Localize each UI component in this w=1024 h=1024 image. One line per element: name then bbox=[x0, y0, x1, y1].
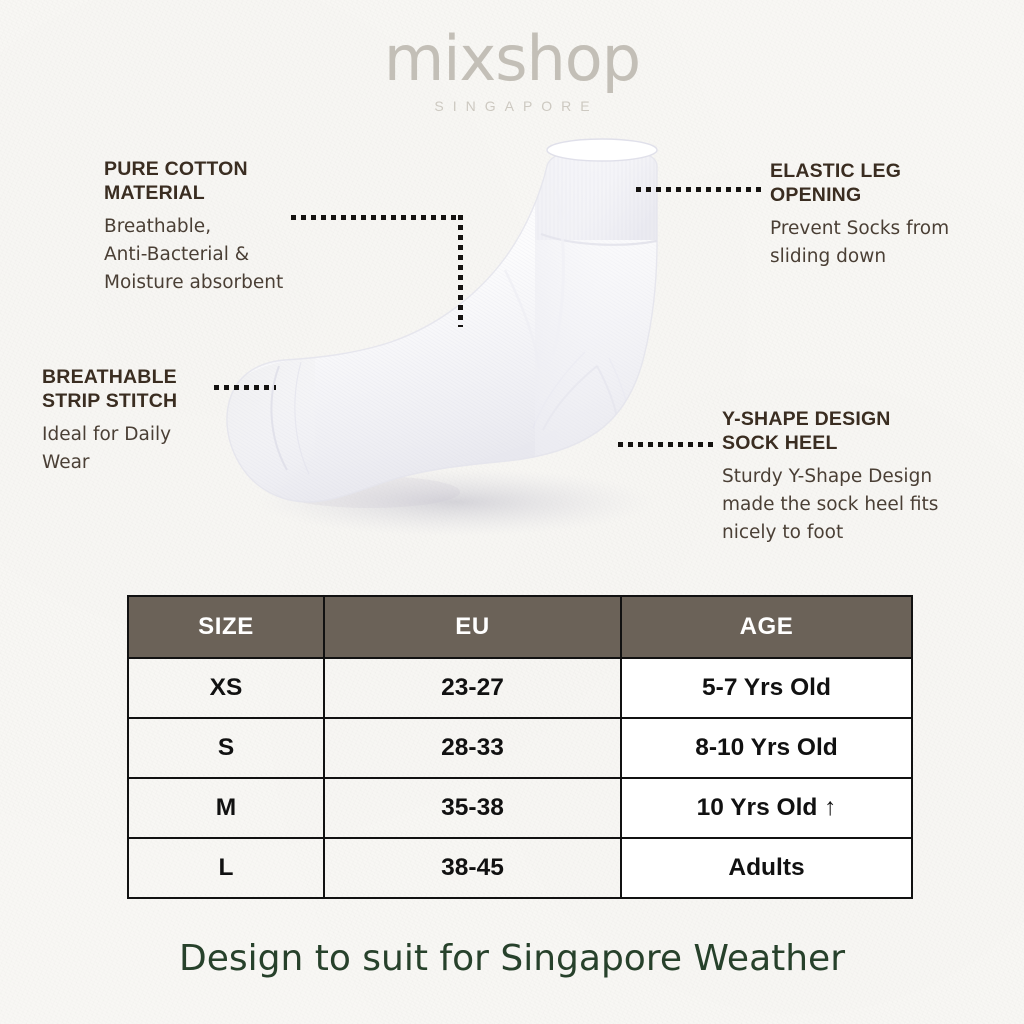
callout-y-shape-sock-heel: Y-SHAPE DESIGN SOCK HEEL Sturdy Y-Shape … bbox=[722, 408, 1007, 547]
brand-logo: mixshop SINGAPORE bbox=[0, 28, 1024, 114]
size-chart-header: SIZE EU AGE bbox=[128, 596, 912, 658]
callout-y-shape-body: Sturdy Y-Shape Design made the sock heel… bbox=[722, 463, 1007, 547]
table-row: S 28-33 8-10 Yrs Old bbox=[128, 718, 912, 778]
callout-breathable-strip-stitch: BREATHABLE STRIP STITCH Ideal for Daily … bbox=[42, 366, 292, 477]
callout-pure-cotton: PURE COTTON MATERIAL Breathable, Anti-Ba… bbox=[104, 158, 404, 297]
cell-eu: 28-33 bbox=[324, 718, 621, 778]
connector-line-elastic-leg bbox=[636, 187, 762, 192]
cell-age: 5-7 Yrs Old bbox=[621, 658, 912, 718]
callout-pure-cotton-body: Breathable, Anti-Bacterial & Moisture ab… bbox=[104, 213, 404, 297]
callout-elastic-leg-body: Prevent Socks from sliding down bbox=[770, 215, 1010, 271]
cell-eu: 38-45 bbox=[324, 838, 621, 898]
callout-elastic-leg-title: ELASTIC LEG OPENING bbox=[770, 160, 1010, 208]
cell-size: M bbox=[128, 778, 324, 838]
size-chart-table: SIZE EU AGE XS 23-27 5-7 Yrs Old S 28-33… bbox=[127, 595, 913, 899]
cell-age: 10 Yrs Old ↑ bbox=[621, 778, 912, 838]
table-row: XS 23-27 5-7 Yrs Old bbox=[128, 658, 912, 718]
cell-eu: 23-27 bbox=[324, 658, 621, 718]
cell-age: 8-10 Yrs Old bbox=[621, 718, 912, 778]
callout-breathable-strip-title: BREATHABLE STRIP STITCH bbox=[42, 366, 292, 414]
size-chart-body: XS 23-27 5-7 Yrs Old S 28-33 8-10 Yrs Ol… bbox=[128, 658, 912, 898]
brand-subword: SINGAPORE bbox=[0, 98, 1024, 114]
connector-line-y-shape-heel bbox=[618, 442, 714, 447]
column-header-eu: EU bbox=[324, 596, 621, 658]
infographic-page: mixshop SINGAPORE bbox=[0, 0, 1024, 1024]
callout-breathable-strip-body: Ideal for Daily Wear bbox=[42, 421, 292, 477]
table-header-row: SIZE EU AGE bbox=[128, 596, 912, 658]
tagline: Design to suit for Singapore Weather bbox=[0, 938, 1024, 979]
sock-leg-opening bbox=[547, 139, 657, 161]
cell-size: XS bbox=[128, 658, 324, 718]
cell-age: Adults bbox=[621, 838, 912, 898]
callout-y-shape-title: Y-SHAPE DESIGN SOCK HEEL bbox=[722, 408, 1007, 456]
column-header-size: SIZE bbox=[128, 596, 324, 658]
callout-pure-cotton-title: PURE COTTON MATERIAL bbox=[104, 158, 404, 206]
table-row: L 38-45 Adults bbox=[128, 838, 912, 898]
column-header-age: AGE bbox=[621, 596, 912, 658]
callout-elastic-leg: ELASTIC LEG OPENING Prevent Socks from s… bbox=[770, 160, 1010, 271]
cell-size: S bbox=[128, 718, 324, 778]
cell-eu: 35-38 bbox=[324, 778, 621, 838]
connector-line-pure-cotton-vertical bbox=[458, 215, 463, 327]
brand-wordmark: mixshop bbox=[0, 28, 1024, 90]
table-row: M 35-38 10 Yrs Old ↑ bbox=[128, 778, 912, 838]
cell-size: L bbox=[128, 838, 324, 898]
